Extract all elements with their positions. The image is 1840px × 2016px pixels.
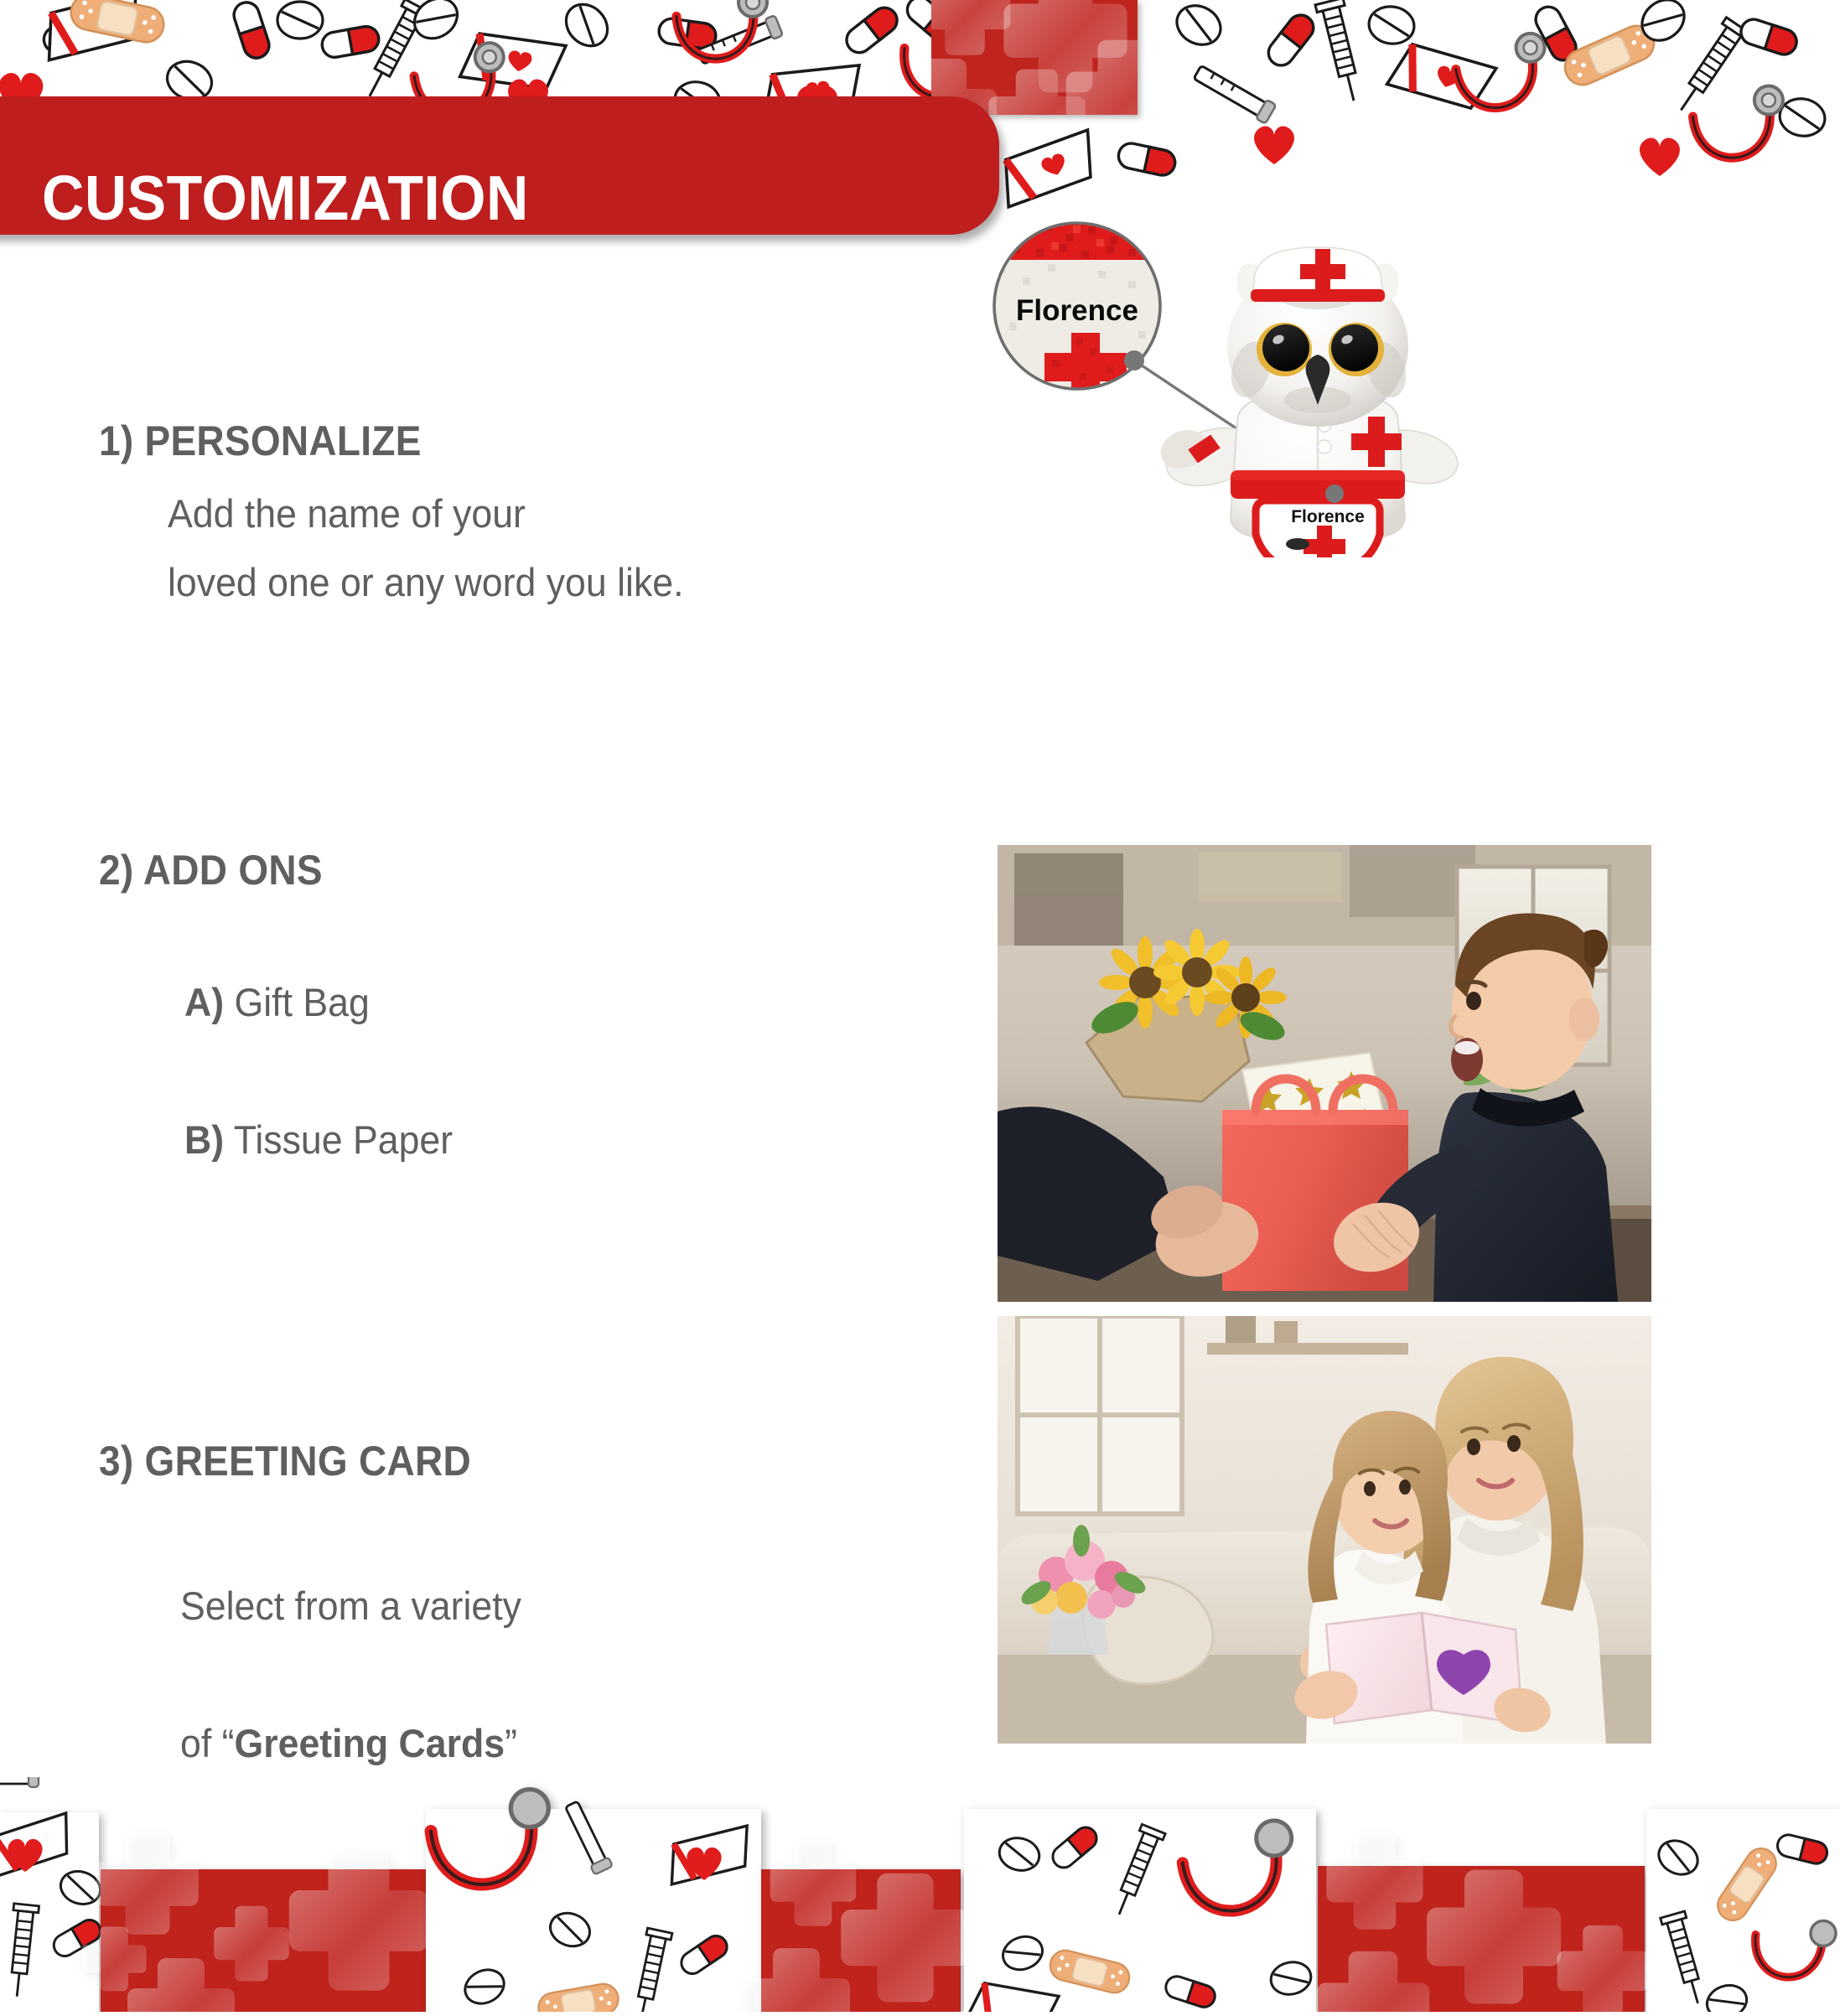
magnifier-red-fabric (994, 223, 1160, 260)
section-heading-add-ons: 2) ADD ONS (99, 847, 323, 894)
magnified-embroidered-name: Florence (1016, 294, 1138, 327)
greeting-card-photo-illustration (998, 1316, 1651, 1744)
page-title-line-1: CUSTOMIZATION (42, 163, 703, 234)
owl-figure: Florence (1155, 247, 1464, 557)
bottom-panel-white-4 (1646, 1809, 1840, 2012)
owl-eye-left (1257, 323, 1312, 376)
bottom-panel-red-2 (743, 1840, 970, 2012)
photo-greeting-card-scene (998, 1316, 1651, 1744)
owl-nurse-cap (1251, 247, 1385, 302)
bottom-panel-white-1 (0, 1812, 105, 2012)
magnifier-callout: Florence (994, 223, 1160, 391)
header-banner: CUSTOMIZATION AND ADD-ON OPTIONS (0, 96, 999, 235)
greeting-card-quote-prefix: of “ (180, 1721, 235, 1765)
add-on-item-gift-bag: A) Gift Bag (184, 979, 370, 1026)
photo-gift-bag-scene (998, 845, 1651, 1302)
add-on-label-tissue-paper: Tissue Paper (234, 1117, 453, 1162)
greeting-card-quote-suffix: ” (505, 1721, 517, 1765)
nurse-owl-plush-illustration: Florence (989, 205, 1576, 557)
owl-eye-right (1329, 323, 1384, 376)
bottom-decorative-strip (0, 1777, 1840, 2012)
magnifier-anchor-dot (1124, 350, 1144, 371)
gift-bag-photo-illustration (998, 845, 1651, 1302)
greeting-card-quote-bold: Greeting Cards (235, 1721, 505, 1765)
section-heading-greeting-card: 3) GREETING CARD (99, 1438, 471, 1485)
apron-embroidered-name: Florence (1291, 507, 1365, 526)
bottom-panel-white-2 (426, 1787, 761, 2012)
page-title-line-2: AND ADD-ON OPTIONS (42, 305, 703, 376)
bottom-panel-white-3 (964, 1809, 1316, 2012)
bottom-panels (0, 1777, 1840, 2012)
page-title: CUSTOMIZATION AND ADD-ON OPTIONS (42, 91, 703, 448)
bottom-panel-red-1 (82, 1832, 429, 2012)
greeting-card-body-line-1: Select from a variety (180, 1572, 521, 1640)
add-on-item-tissue-paper: B) Tissue Paper (184, 1117, 453, 1163)
add-on-label-gift-bag: Gift Bag (235, 980, 370, 1024)
product-photo-nurse-owl: Florence (989, 205, 1576, 557)
callout-anchor-dot (1325, 485, 1344, 503)
greeting-card (1326, 1613, 1522, 1723)
bottom-panel-red-3 (1317, 1833, 1649, 2012)
greeting-card-body-line-2: of “Greeting Cards” (180, 1709, 521, 1778)
section-body-personalize: Add the name of your loved one or any wo… (168, 479, 684, 617)
add-on-marker-b: B) (184, 1117, 224, 1162)
add-on-marker-a: A) (184, 980, 224, 1024)
